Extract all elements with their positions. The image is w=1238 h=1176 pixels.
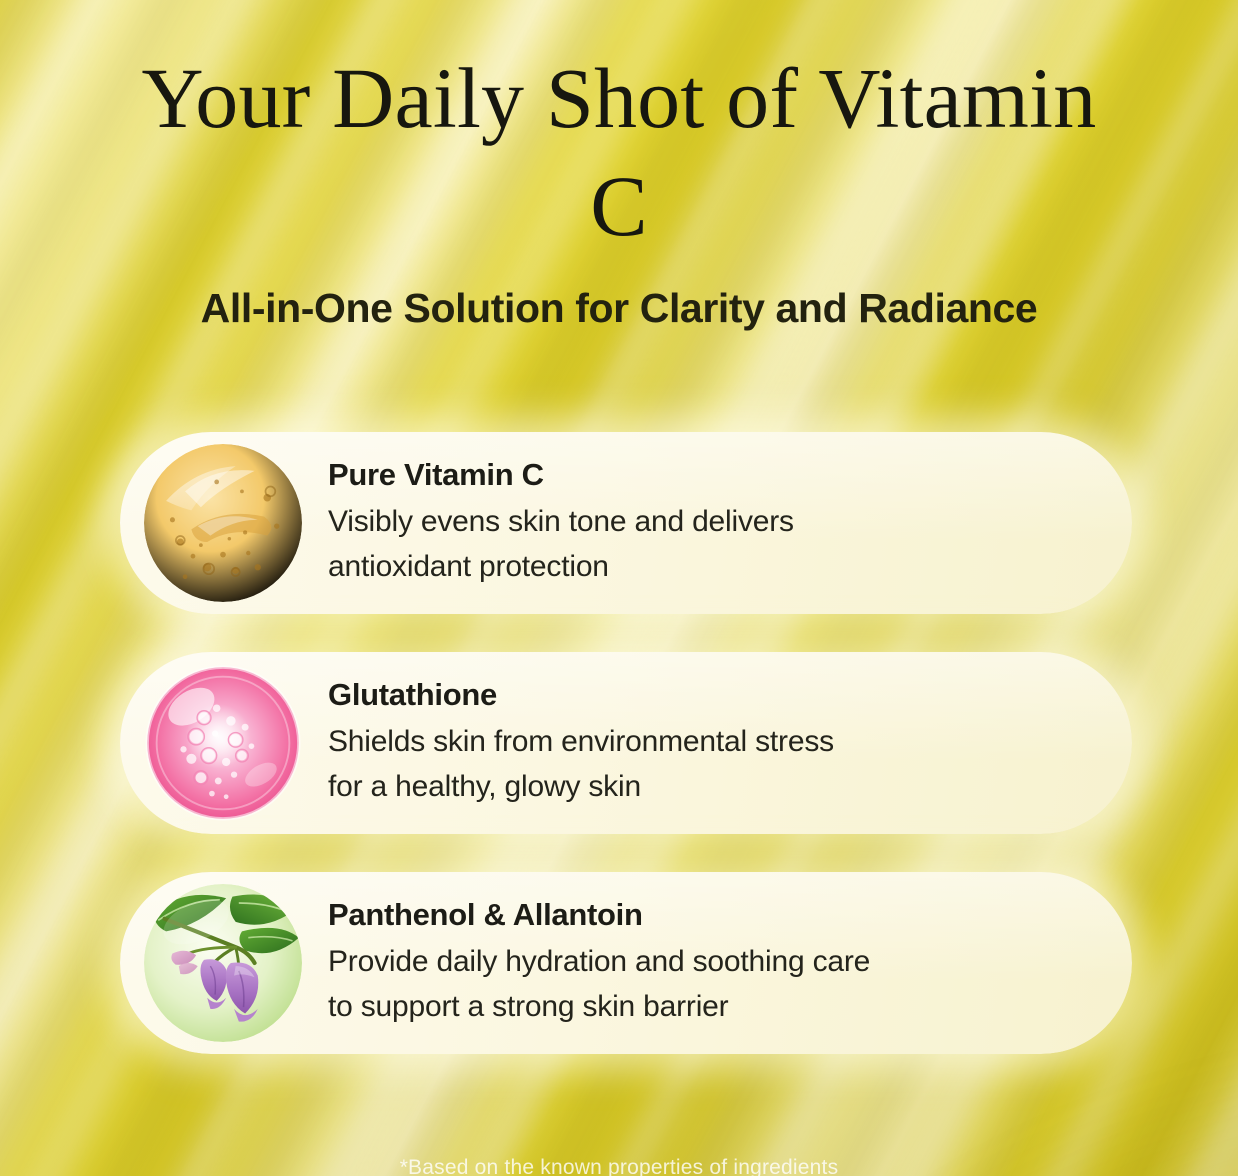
footnote: *Based on the known properties of ingred… bbox=[0, 1156, 1238, 1176]
benefit-card-glutathione: Glutathione Shields skin from environmen… bbox=[120, 652, 1132, 834]
benefit-card-title: Pure Vitamin C bbox=[328, 457, 794, 494]
benefit-card-title: Panthenol & Allantoin bbox=[328, 897, 870, 934]
benefit-card-description: Provide daily hydration and soothing car… bbox=[328, 939, 870, 1029]
poster-canvas: Your Daily Shot of Vitamin C All-in-One … bbox=[0, 0, 1238, 1176]
benefit-card-panthenol-allantoin: Panthenol & Allantoin Provide daily hydr… bbox=[120, 872, 1132, 1054]
panthenol-allantoin-botanical-icon bbox=[144, 884, 302, 1042]
benefit-card-description: Visibly evens skin tone and delivers ant… bbox=[328, 499, 794, 589]
benefit-card-list: Pure Vitamin C Visibly evens skin tone a… bbox=[120, 432, 1132, 1092]
benefit-card-text: Pure Vitamin C Visibly evens skin tone a… bbox=[328, 457, 824, 589]
benefit-card-text: Panthenol & Allantoin Provide daily hydr… bbox=[328, 897, 900, 1029]
benefit-card-description: Shields skin from environmental stress f… bbox=[328, 719, 834, 809]
page-subtitle: All-in-One Solution for Clarity and Radi… bbox=[0, 285, 1238, 332]
benefit-card-pure-vitamin-c: Pure Vitamin C Visibly evens skin tone a… bbox=[120, 432, 1132, 614]
benefit-card-text: Glutathione Shields skin from environmen… bbox=[328, 677, 864, 809]
benefit-card-title: Glutathione bbox=[328, 677, 834, 714]
vitamin-c-gel-swatch-icon bbox=[144, 444, 302, 602]
header: Your Daily Shot of Vitamin C All-in-One … bbox=[0, 44, 1238, 332]
page-title: Your Daily Shot of Vitamin C bbox=[0, 44, 1238, 261]
glutathione-droplet-icon bbox=[144, 664, 302, 822]
